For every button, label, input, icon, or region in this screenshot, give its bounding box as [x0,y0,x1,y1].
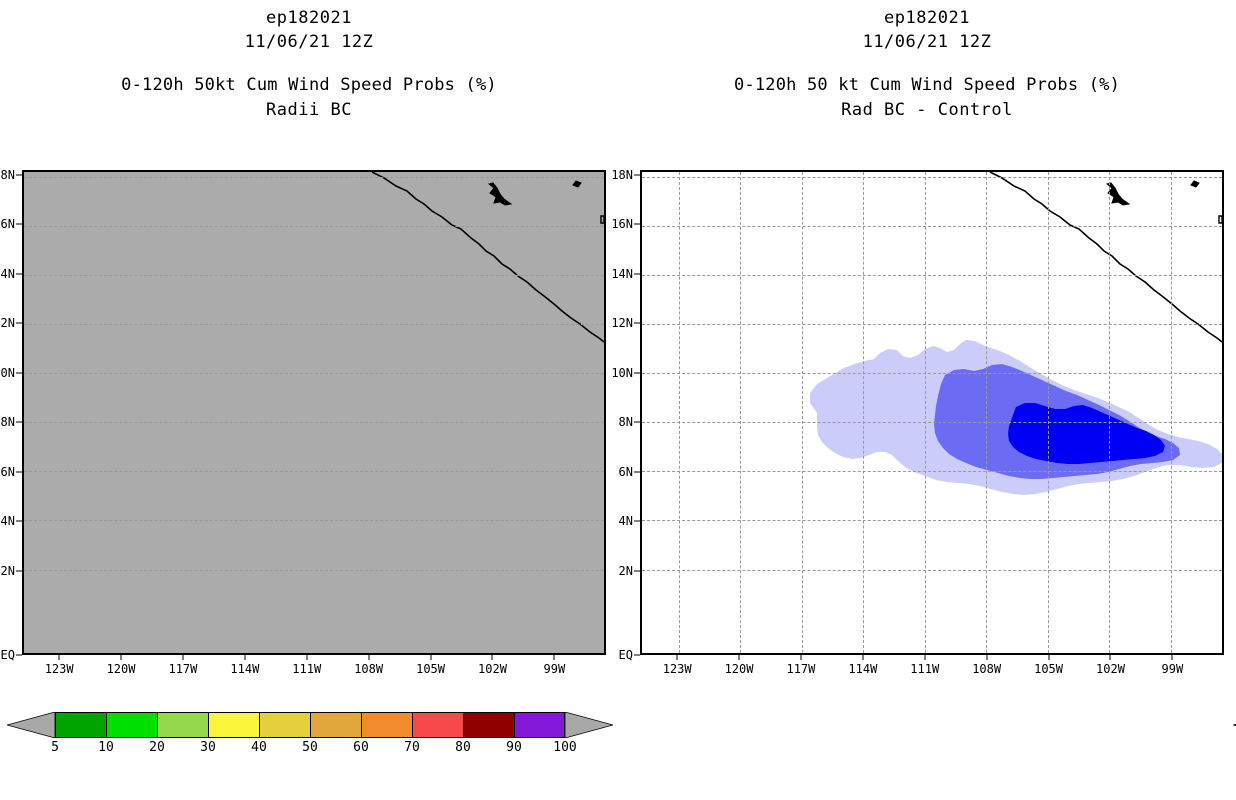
ytick-label-16N-right: 16N [611,217,633,231]
xtick-label-99W-left: 99W [544,662,566,676]
gridline-lat-4N-right [642,520,1222,521]
gridline-lat-18N-right [642,177,1222,178]
ytick-mark-EQ-right [634,655,640,656]
colorbar-over-arrow-left [565,712,613,738]
ytick-label-10N-right: 10N [611,366,633,380]
gridline-lat-16N-left [24,226,604,227]
xtick-mark-114W-right [862,655,863,660]
gridline-lat-18N-left [24,177,604,178]
gridline-lon-108W-right [986,172,987,653]
xtick-mark-117W-right [800,655,801,660]
map-wrap-left: 18N 16N 14N 12N 10N 8N 6N 4N 2N EQ 123W … [22,170,606,655]
ytick-mark-12N-left [16,323,22,324]
prob-tick-80: 80 [455,740,471,755]
probability-colorbar: 5 10 20 30 40 50 60 70 80 90 100 [55,712,565,772]
xtick-label-111W-right: 111W [910,662,939,676]
ytick-label-6N-left: 6N [1,465,15,479]
xtick-label-114W-right: 114W [848,662,877,676]
xtick-mark-105W-left [430,655,431,660]
prob-seg-50-60 [310,712,361,738]
ytick-label-EQ-right: EQ [619,648,633,662]
product-title-right: 0-120h 50 kt Cum Wind Speed Probs (%) [618,72,1236,98]
ytick-label-EQ-left: EQ [1,648,15,662]
ytick-mark-2N-right [634,570,640,571]
gridline-lat-2N-right [642,570,1222,571]
ytick-label-12N-right: 12N [611,316,633,330]
xtick-mark-108W-left [368,655,369,660]
xtick-mark-102W-right [1110,655,1111,660]
gridline-lat-2N-left [24,570,604,571]
xtick-label-105W-left: 105W [416,662,445,676]
panel-left-titles: ep182021 11/06/21 12Z 0-120h 50kt Cum Wi… [0,6,618,122]
xtick-label-102W-right: 102W [1096,662,1125,676]
prob-seg-5-10 [55,712,106,738]
ytick-mark-18N-left [16,174,22,175]
ytick-mark-14N-right [634,273,640,274]
ytick-mark-16N-left [16,224,22,225]
xtick-mark-111W-right [924,655,925,660]
ytick-label-6N-right: 6N [619,465,633,479]
ytick-mark-18N-right [634,174,640,175]
xtick-mark-120W-right [739,655,740,660]
xtick-mark-123W-left [59,655,60,660]
ytick-mark-10N-right [634,372,640,373]
gridline-lon-123W-right [679,172,680,653]
storm-id-left: ep182021 [0,6,618,30]
product-subtitle-right: Rad BC - Control [618,98,1236,122]
colorbar-under-arrow-left [7,712,55,738]
product-title-left: 0-120h 50kt Cum Wind Speed Probs (%) [0,72,618,98]
prob-seg-60-70 [361,712,412,738]
map-frame-right [640,170,1224,655]
ytick-label-14N-left: 14N [0,267,15,281]
gridline-lat-16N-right [642,226,1222,227]
gridline-lat-6N-right [642,471,1222,472]
ytick-label-2N-left: 2N [1,564,15,578]
prob-seg-40-50 [259,712,310,738]
gridline-lat-8N-left [24,422,604,423]
xtick-label-117W-right: 117W [786,662,815,676]
xtick-label-111W-left: 111W [292,662,321,676]
gridline-lat-8N-right [642,422,1222,423]
gridline-lon-114W-right [863,172,864,653]
xtick-label-120W-left: 120W [107,662,136,676]
xtick-label-114W-left: 114W [230,662,259,676]
ytick-mark-4N-right [634,521,640,522]
xtick-mark-99W-left [554,655,555,660]
prob-tick-30: 30 [200,740,216,755]
storm-id-right: ep182021 [618,6,1236,30]
prob-seg-80-90 [463,712,514,738]
xtick-label-108W-left: 108W [354,662,383,676]
ytick-mark-8N-right [634,422,640,423]
ytick-mark-12N-right [634,323,640,324]
panel-right-titles: ep182021 11/06/21 12Z 0-120h 50 kt Cum W… [618,6,1236,122]
ytick-label-8N-right: 8N [619,415,633,429]
gridline-lat-10N-right [642,373,1222,374]
gridline-lon-120W-right [740,172,741,653]
prob-seg-20-30 [157,712,208,738]
xtick-mark-108W-right [986,655,987,660]
gridline-lon-111W-right [925,172,926,653]
gridline-lon-99W-right [1171,172,1172,653]
ytick-label-14N-right: 14N [611,267,633,281]
xtick-mark-102W-left [492,655,493,660]
xtick-label-99W-right: 99W [1162,662,1184,676]
gridline-lon-102W-right [1109,172,1110,653]
ytick-label-18N-right: 18N [611,168,633,182]
xtick-mark-123W-right [677,655,678,660]
ytick-label-12N-left: 12N [0,316,15,330]
prob-tick-5: 5 [51,740,59,755]
map-field-left [24,172,604,653]
xtick-label-102W-left: 102W [478,662,507,676]
prob-tick-40: 40 [251,740,267,755]
ytick-mark-4N-left [16,521,22,522]
xtick-mark-105W-right [1048,655,1049,660]
ytick-label-2N-right: 2N [619,564,633,578]
gridline-lat-6N-left [24,471,604,472]
map-field-right [642,172,1222,653]
prob-tick-100: 100 [553,740,576,755]
map-wrap-right: 18N 16N 14N 12N 10N 8N 6N 4N 2N EQ 123W … [640,170,1224,655]
ytick-mark-14N-left [16,273,22,274]
ytick-label-4N-right: 4N [619,514,633,528]
ytick-mark-2N-left [16,570,22,571]
wind-speed-probability-figure: ep182021 11/06/21 12Z 0-120h 50kt Cum Wi… [0,0,1236,800]
xtick-label-120W-right: 120W [725,662,754,676]
prob-tick-60: 60 [353,740,369,755]
xtick-mark-99W-right [1172,655,1173,660]
prob-seg-30-40 [208,712,259,738]
xtick-mark-117W-left [182,655,183,660]
xtick-mark-120W-left [121,655,122,660]
gridline-lat-4N-left [24,520,604,521]
gridline-lon-117W-right [802,172,803,653]
ytick-label-10N-left: 10N [0,366,15,380]
xtick-label-105W-right: 105W [1034,662,1063,676]
prob-seg-70-80 [412,712,463,738]
gridline-lat-14N-left [24,275,604,276]
coastline-overlay-left [24,172,604,653]
gridline-lon-105W-right [1048,172,1049,653]
ytick-label-8N-left: 8N [1,415,15,429]
gridline-lat-10N-left [24,373,604,374]
panel-rad-bc-minus-control: ep182021 11/06/21 12Z 0-120h 50 kt Cum W… [618,0,1236,800]
product-subtitle-left: Radii BC [0,98,618,122]
gridline-lat-12N-left [24,324,604,325]
panel-radii-bc: ep182021 11/06/21 12Z 0-120h 50kt Cum Wi… [0,0,618,800]
ytick-mark-8N-left [16,422,22,423]
ytick-label-16N-left: 16N [0,217,15,231]
prob-tick-70: 70 [404,740,420,755]
ytick-mark-6N-left [16,471,22,472]
xtick-label-123W-left: 123W [45,662,74,676]
xtick-label-123W-right: 123W [663,662,692,676]
forecast-datetime-left: 11/06/21 12Z [0,30,618,54]
gridline-lat-14N-right [642,275,1222,276]
prob-tick-10: 10 [98,740,114,755]
coastline-overlay-right [642,172,1222,653]
ytick-label-18N-left: 18N [0,168,15,182]
xtick-mark-111W-left [306,655,307,660]
xtick-mark-114W-left [244,655,245,660]
prob-tick-50: 50 [302,740,318,755]
ytick-mark-16N-right [634,224,640,225]
ytick-label-4N-left: 4N [1,514,15,528]
ytick-mark-EQ-left [16,655,22,656]
prob-tick-90: 90 [506,740,522,755]
prob-seg-90-100 [514,712,565,738]
map-frame-left [22,170,606,655]
ytick-mark-6N-right [634,471,640,472]
prob-tick-20: 20 [149,740,165,755]
xtick-label-108W-right: 108W [972,662,1001,676]
gridline-lat-12N-right [642,324,1222,325]
prob-seg-10-20 [106,712,157,738]
xtick-label-117W-left: 117W [168,662,197,676]
probability-colorbar-strip [55,712,565,738]
forecast-datetime-right: 11/06/21 12Z [618,30,1236,54]
ytick-mark-10N-left [16,372,22,373]
